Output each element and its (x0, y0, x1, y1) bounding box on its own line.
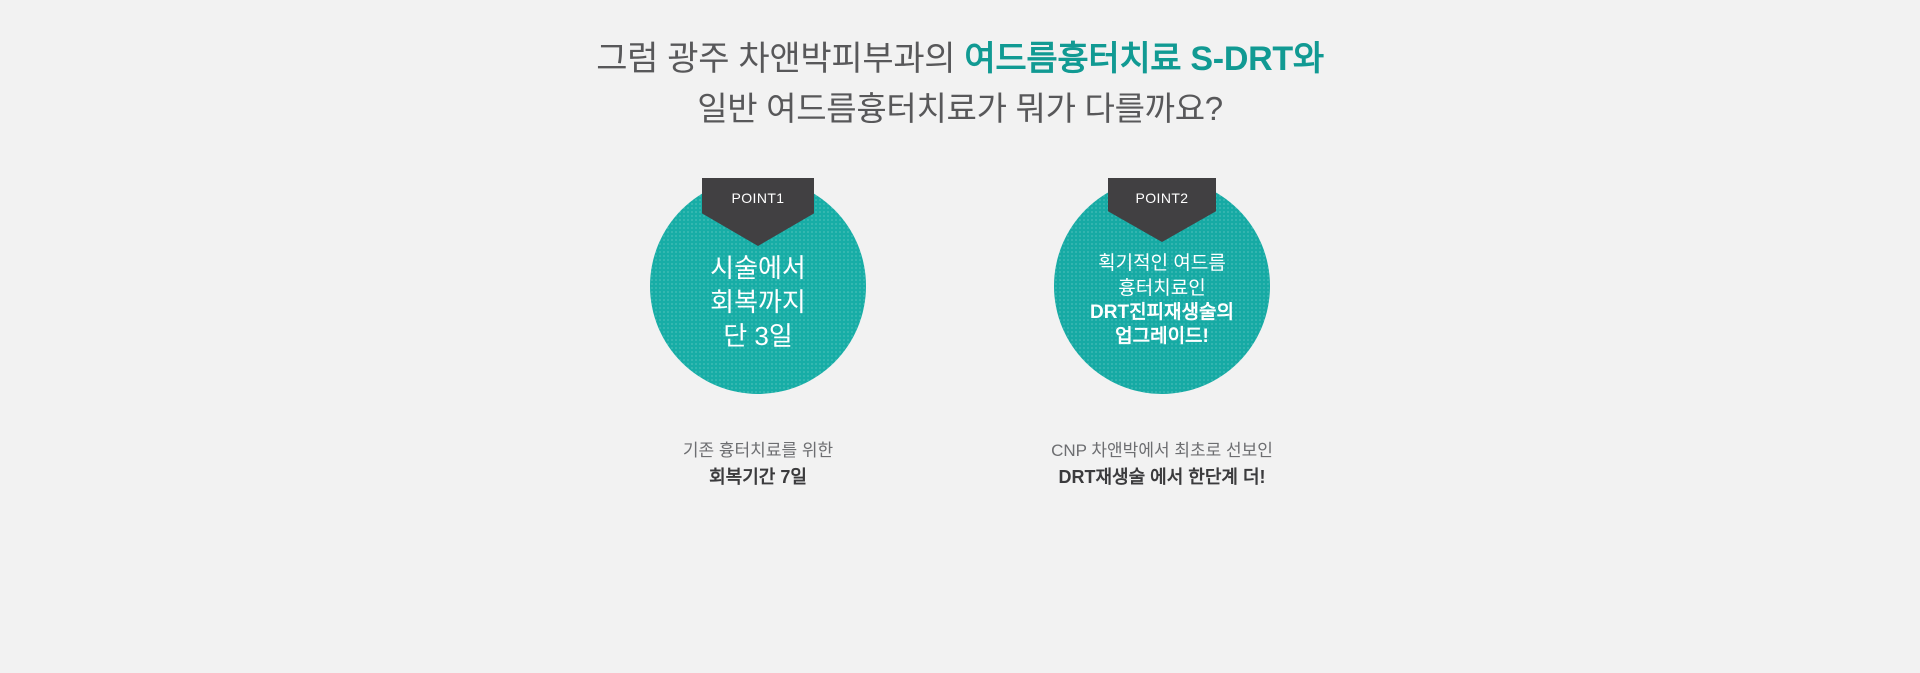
headline-block: 그럼 광주 차앤박피부과의 여드름흉터치료 S-DRT와 일반 여드름흉터치료가… (0, 42, 1920, 125)
point1-caption-light: 기존 흉터치료를 위한 (683, 438, 833, 464)
points-row: 시술에서 회복까지 단 3일 POINT1 기존 흉터치료를 위한 회복기간 7… (0, 178, 1920, 492)
point1-line-2: 회복까지 (650, 286, 866, 320)
point-card-1: 시술에서 회복까지 단 3일 POINT1 기존 흉터치료를 위한 회복기간 7… (627, 178, 889, 492)
point2-circle: 획기적인 여드름 흉터치료인 DRT진피재생술의 업그레이드! (1054, 178, 1270, 394)
point2-circle-wrap: 획기적인 여드름 흉터치료인 DRT진피재생술의 업그레이드! POINT2 (1054, 178, 1270, 394)
point2-caption: CNP 차앤박에서 최초로 선보인 DRT재생술 에서 한단계 더! (1051, 438, 1273, 492)
point2-caption-light: CNP 차앤박에서 최초로 선보인 (1051, 438, 1273, 464)
point1-circle-text: 시술에서 회복까지 단 3일 (650, 218, 866, 353)
point1-caption-bold: 회복기간 7일 (683, 464, 833, 492)
point1-caption: 기존 흉터치료를 위한 회복기간 7일 (683, 438, 833, 492)
headline-line-2: 일반 여드름흉터치료가 뭐가 다를까요? (0, 92, 1920, 125)
point2-line-3: DRT진피재생술의 (1054, 301, 1270, 325)
point2-line-2: 흉터치료인 (1054, 277, 1270, 301)
point-card-2: 획기적인 여드름 흉터치료인 DRT진피재생술의 업그레이드! POINT2 C… (1031, 178, 1293, 492)
point2-caption-bold: DRT재생술 에서 한단계 더! (1051, 464, 1273, 492)
headline-prefix: 그럼 광주 차앤박피부과의 (596, 40, 964, 78)
point2-line-1: 획기적인 여드름 (1054, 252, 1270, 276)
point1-circle: 시술에서 회복까지 단 3일 (650, 178, 866, 394)
point1-line-1: 시술에서 (650, 252, 866, 286)
point2-line-4: 업그레이드! (1054, 325, 1270, 349)
point2-circle-text: 획기적인 여드름 흉터치료인 DRT진피재생술의 업그레이드! (1054, 222, 1270, 349)
headline-line-1: 그럼 광주 차앤박피부과의 여드름흉터치료 S-DRT와 (0, 42, 1920, 76)
point1-circle-wrap: 시술에서 회복까지 단 3일 POINT1 (650, 178, 866, 394)
headline-accent-suffix: 와 (1293, 40, 1324, 78)
point1-line-3: 단 3일 (650, 320, 866, 354)
headline-accent-text: 여드름흉터치료 S-DRT (964, 40, 1292, 78)
